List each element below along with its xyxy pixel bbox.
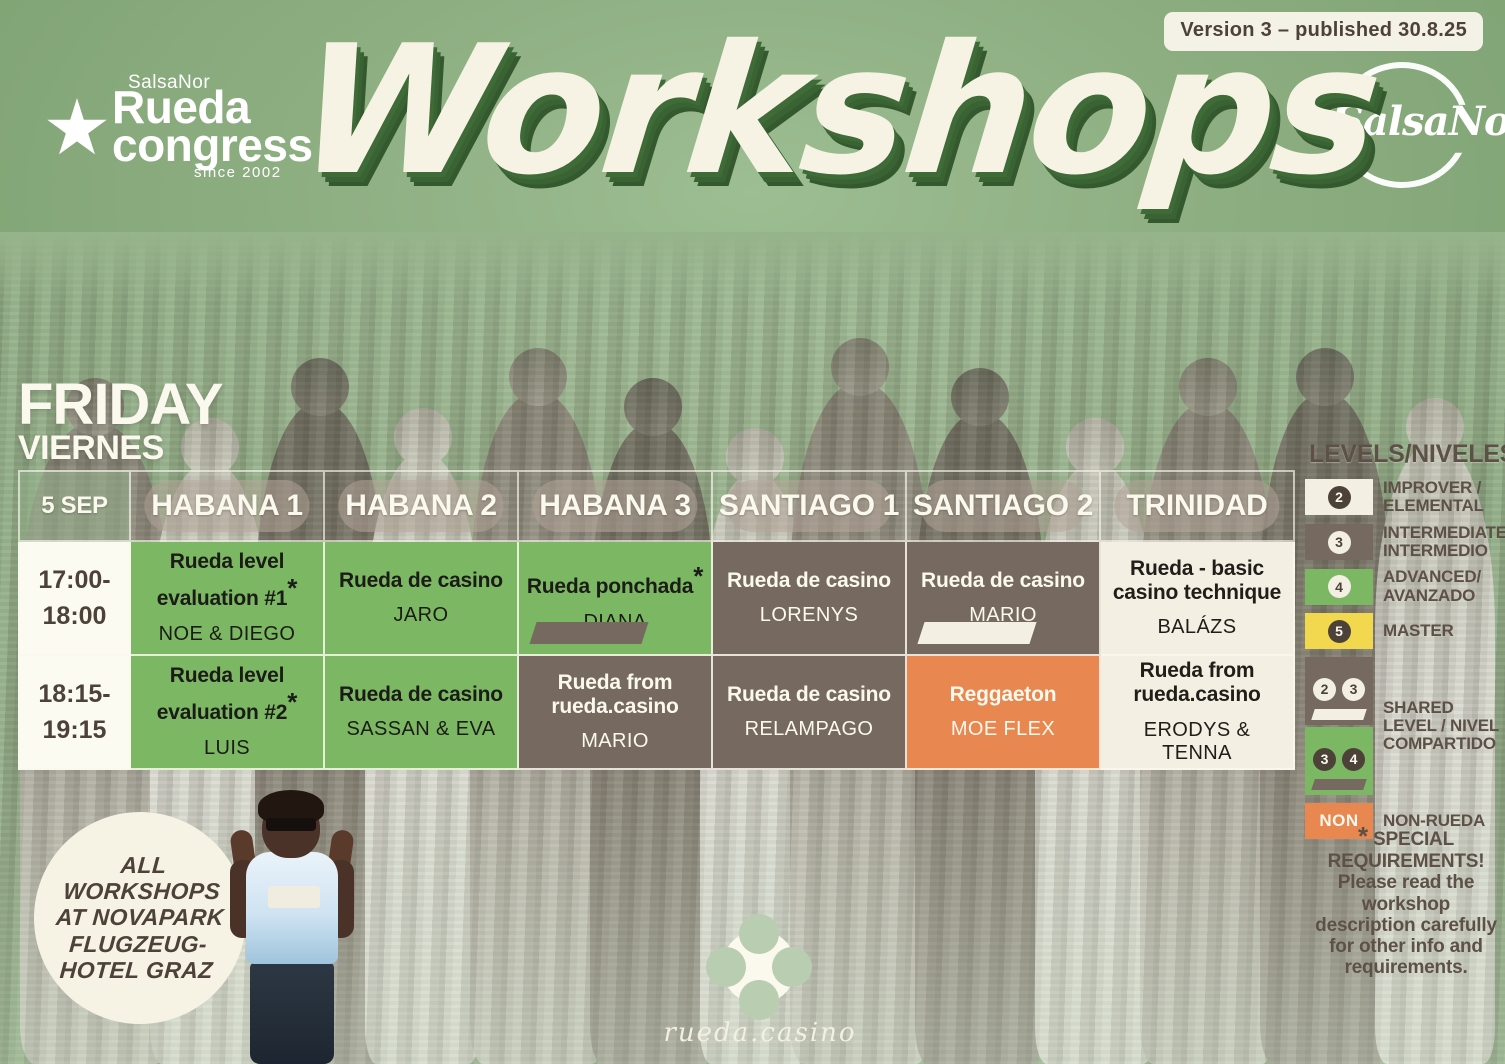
day-name-en: FRIDAY: [18, 378, 223, 431]
workshop-cell[interactable]: Reggaeton MOE FLEX: [907, 656, 1101, 770]
workshop-title: Rueda level evaluation #1: [157, 550, 287, 610]
swatch-level-3: 3: [1305, 524, 1373, 560]
page-title: Workshops: [291, 22, 1386, 200]
shirt-logo: [268, 886, 320, 908]
levels-title: LEVELS/NIVELES: [1309, 440, 1505, 469]
workshop-title: Rueda from rueda.casino: [1107, 659, 1287, 706]
shared-swatches: 2 3 3 4: [1305, 657, 1373, 795]
swatch-level-4: 4: [1305, 569, 1373, 605]
header-room-habana-3: HABANA 3: [519, 470, 713, 542]
header-room-trinidad: TRINIDAD: [1101, 470, 1295, 542]
workshop-title: Reggaeton: [950, 683, 1057, 707]
workshop-teacher: LORENYS: [760, 604, 858, 627]
workshop-title: Rueda from rueda.casino: [525, 671, 705, 718]
table-header-row: 5 SEP HABANA 1 HABANA 2 HABANA 3 SANTIAG…: [18, 470, 1299, 542]
level-number: 3: [1328, 531, 1351, 554]
workshop-cell[interactable]: Rueda de casino SASSAN & EVA: [325, 656, 519, 770]
workshop-teacher: MOE FLEX: [951, 718, 1055, 741]
workshop-teacher: NOE & DIEGO: [159, 623, 296, 646]
star-icon: [46, 98, 108, 160]
level-number: 4: [1342, 748, 1365, 771]
special-requirements-text: SPECIAL REQUIREMENTS! Please read the wo…: [1315, 829, 1497, 978]
swatch-level-5: 5: [1305, 613, 1373, 649]
day-heading: FRIDAY VIERNES: [18, 378, 223, 465]
swatch-shared-3-4: 3 4: [1305, 727, 1373, 795]
legend-label: INTERMEDIATE INTERMEDIO: [1383, 524, 1505, 561]
workshop-teacher: JARO: [394, 604, 449, 627]
special-req-star: *: [287, 573, 297, 603]
workshop-cell[interactable]: Rueda from rueda.casino ERODYS & TENNA: [1101, 656, 1295, 770]
workshop-title: Rueda level evaluation #2: [157, 664, 287, 724]
legend-item-level-3: 3 INTERMEDIATE INTERMEDIO: [1305, 524, 1505, 561]
legend-item-shared-level: 2 3 3 4 SHARED LEVEL / NIVEL COMPARTIDO: [1305, 657, 1505, 795]
header-room-habana-1: HABANA 1: [131, 470, 325, 542]
levels-legend: LEVELS/NIVELES 2 IMPROVER / ELEMENTAL 3 …: [1305, 440, 1505, 847]
time-slot: 18:15- 19:15: [18, 656, 131, 770]
workshop-title: Rueda de casino: [339, 683, 503, 707]
header-room-santiago-1: SANTIAGO 1: [713, 470, 907, 542]
venue-badge: ALL WORKSHOPS AT NOVAPARK FLUGZEUG-HOTEL…: [34, 812, 246, 1024]
workshop-title: Rueda de casino: [727, 683, 891, 707]
workshop-cell[interactable]: Rueda de casino JARO: [325, 542, 519, 656]
level-number: 5: [1328, 620, 1351, 643]
workshop-teacher: SASSAN & EVA: [347, 718, 496, 741]
legend-label: SHARED LEVEL / NIVEL COMPARTIDO: [1383, 699, 1505, 754]
workshop-title: Rueda - basic casino technique: [1107, 557, 1287, 604]
workshop-title: Rueda ponchada: [527, 575, 693, 598]
header-room-habana-2: HABANA 2: [325, 470, 519, 542]
legs: [250, 962, 334, 1064]
torso: [246, 852, 338, 964]
workshop-cell[interactable]: Rueda ponchada* DIANA: [519, 542, 713, 656]
workshop-cell[interactable]: Rueda de casino MARIO: [907, 542, 1101, 656]
legend-item-level-5: 5 MASTER: [1305, 613, 1505, 649]
swatch-level-2: 2: [1305, 479, 1373, 515]
schedule-table: 5 SEP HABANA 1 HABANA 2 HABANA 3 SANTIAG…: [18, 470, 1299, 770]
sunglasses-icon: [266, 818, 316, 831]
workshop-teacher: MARIO: [581, 730, 649, 753]
legend-label: MASTER: [1383, 622, 1454, 640]
workshop-cell[interactable]: Rueda level evaluation #2* LUIS: [131, 656, 325, 770]
level-number: 2: [1328, 486, 1351, 509]
rueda-casino-icon: [722, 930, 796, 1004]
rueda-casino-wordmark: rueda.casino: [660, 1018, 860, 1048]
legend-item-level-4: 4 ADVANCED/ AVANZADO: [1305, 568, 1505, 605]
workshop-teacher: BALÁZS: [1157, 616, 1236, 639]
shared-level-bar: [1311, 779, 1367, 790]
shared-level-bar: [917, 622, 1036, 644]
level-number: 4: [1328, 575, 1351, 598]
header-date: 5 SEP: [18, 470, 131, 542]
workshop-title: Rueda de casino: [339, 569, 503, 593]
workshop-cell[interactable]: Rueda de casino LORENYS: [713, 542, 907, 656]
workshop-title: Rueda de casino: [921, 569, 1085, 593]
special-req-star: *: [1358, 821, 1368, 851]
workshop-teacher: LUIS: [204, 737, 250, 760]
photo-fade: [0, 232, 1505, 302]
swatch-shared-2-3: 2 3: [1305, 657, 1373, 725]
shared-level-bar: [1311, 709, 1367, 720]
special-req-star: *: [287, 687, 297, 717]
header-room-santiago-2: SANTIAGO 2: [907, 470, 1101, 542]
workshop-cell[interactable]: Rueda level evaluation #1* NOE & DIEGO: [131, 542, 325, 656]
workshop-teacher: ERODYS & TENNA: [1107, 719, 1287, 765]
special-req-star: *: [693, 561, 703, 591]
logo-line2: congress: [112, 122, 313, 168]
workshop-poster: Version 3 – published 30.8.25 SalsaNor R…: [0, 0, 1505, 1064]
level-number: 3: [1313, 748, 1336, 771]
level-number: 2: [1313, 678, 1336, 701]
logo-since: since 2002: [194, 164, 282, 181]
rueda-congress-logo: SalsaNor Rueda congress since 2002: [46, 72, 296, 172]
venue-badge-text: ALL WORKSHOPS AT NOVAPARK FLUGZEUG-HOTEL…: [29, 852, 250, 983]
workshop-cell[interactable]: Rueda from rueda.casino MARIO: [519, 656, 713, 770]
workshop-title: Rueda de casino: [727, 569, 891, 593]
workshop-cell[interactable]: Rueda de casino RELAMPAGO: [713, 656, 907, 770]
legend-item-level-2: 2 IMPROVER / ELEMENTAL: [1305, 479, 1505, 516]
legend-label: IMPROVER / ELEMENTAL: [1383, 479, 1505, 516]
table-row: 18:15- 19:15 Rueda level evaluation #2* …: [18, 656, 1299, 770]
shared-level-bar: [529, 622, 648, 644]
special-requirements-note: * SPECIAL REQUIREMENTS! Please read the …: [1310, 822, 1502, 979]
person-cutout: [232, 790, 352, 1064]
time-slot: 17:00- 18:00: [18, 542, 131, 656]
legend-label: ADVANCED/ AVANZADO: [1383, 568, 1505, 605]
table-row: 17:00- 18:00 Rueda level evaluation #1* …: [18, 542, 1299, 656]
workshop-teacher: RELAMPAGO: [745, 718, 874, 741]
level-number: 3: [1342, 678, 1365, 701]
workshop-cell[interactable]: Rueda - basic casino technique BALÁZS: [1101, 542, 1295, 656]
